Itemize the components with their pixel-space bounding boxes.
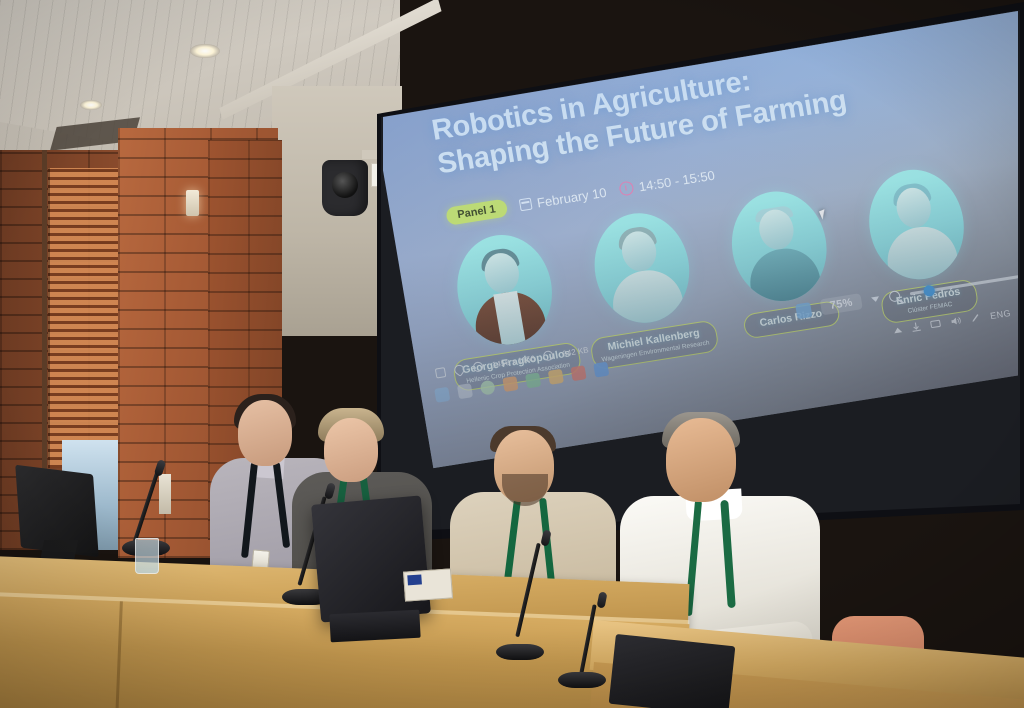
eu-project-label [403, 568, 453, 601]
browser-icon[interactable] [593, 362, 609, 378]
explorer-icon[interactable] [502, 376, 518, 392]
display-icon[interactable] [930, 318, 943, 331]
widgets-icon[interactable] [480, 380, 496, 396]
slide-date: February 10 [518, 184, 608, 213]
laptop-base [329, 610, 420, 643]
panel-badge: Panel 1 [445, 199, 508, 226]
search-icon[interactable] [457, 383, 473, 399]
calendar-icon [518, 198, 532, 212]
slide-time-label: 14:50 - 15:50 [638, 167, 716, 194]
zoom-slider-thumb[interactable] [923, 284, 936, 297]
chevron-down-icon[interactable] [871, 296, 880, 302]
store-icon[interactable] [548, 369, 564, 385]
panelist-1-head [238, 400, 292, 466]
start-icon[interactable] [434, 387, 450, 403]
ceiling-downlight-icon [80, 100, 102, 110]
rotate-icon[interactable] [430, 75, 447, 92]
share-icon[interactable] [495, 65, 512, 82]
laptop-screen [311, 495, 431, 622]
avatar [586, 207, 697, 330]
avatar [860, 163, 971, 286]
pen-icon[interactable] [970, 312, 983, 325]
info-icon [435, 367, 447, 378]
conference-room-photo: SmartDroplets - FIMA 2026 - Panel 1.png … [0, 0, 1024, 708]
avatar [449, 228, 560, 351]
slide-time: 14:50 - 15:50 [618, 167, 716, 197]
more-options-icon[interactable]: ••• [517, 64, 532, 77]
window-blinds [48, 168, 126, 468]
avatar-body [882, 222, 960, 284]
viewer-window-title: SmartDroplets - FIMA 2026 - Panel 1.png [596, 9, 758, 12]
speaker-card: Michiel Kallenberg Wageningen Environmen… [581, 206, 708, 369]
avatar [723, 185, 834, 308]
slide-date-label: February 10 [536, 184, 608, 210]
projector-mount [322, 160, 368, 216]
photos-icon[interactable] [570, 365, 586, 381]
panelist-2-head [324, 418, 378, 482]
avatar-body [607, 266, 685, 328]
clock-icon [618, 181, 634, 197]
volume-icon[interactable] [950, 315, 963, 328]
ceiling-downlight-icon [190, 44, 220, 58]
fit-to-window-icon[interactable] [795, 302, 812, 319]
onedrive-icon[interactable] [910, 321, 923, 334]
mail-icon[interactable] [525, 372, 541, 388]
water-glass [135, 538, 159, 574]
language-indicator[interactable]: ENG [989, 308, 1011, 321]
slide-title: Robotics in Agriculture: Shaping the Fut… [429, 39, 915, 182]
zoom-out-icon[interactable] [888, 290, 901, 303]
laptop-right [609, 634, 736, 708]
chevron-up-icon[interactable] [894, 327, 903, 333]
projected-slide: SmartDroplets - FIMA 2026 - Panel 1.png … [383, 9, 1018, 468]
speaker-name-chip: Michiel Kallenberg Wageningen Environmen… [589, 319, 720, 370]
edit-icon[interactable] [472, 361, 484, 372]
zoom-tool-icon[interactable] [409, 79, 426, 96]
crop-icon[interactable] [452, 72, 469, 89]
avatar-body [745, 244, 823, 306]
wall-sconce [186, 190, 199, 216]
wall-switch[interactable] [159, 474, 171, 514]
delete-icon[interactable] [474, 69, 491, 86]
file-icon [543, 350, 555, 361]
speaker-card: Carlos Rizzo [719, 184, 846, 347]
panelist-4-head [666, 418, 736, 502]
